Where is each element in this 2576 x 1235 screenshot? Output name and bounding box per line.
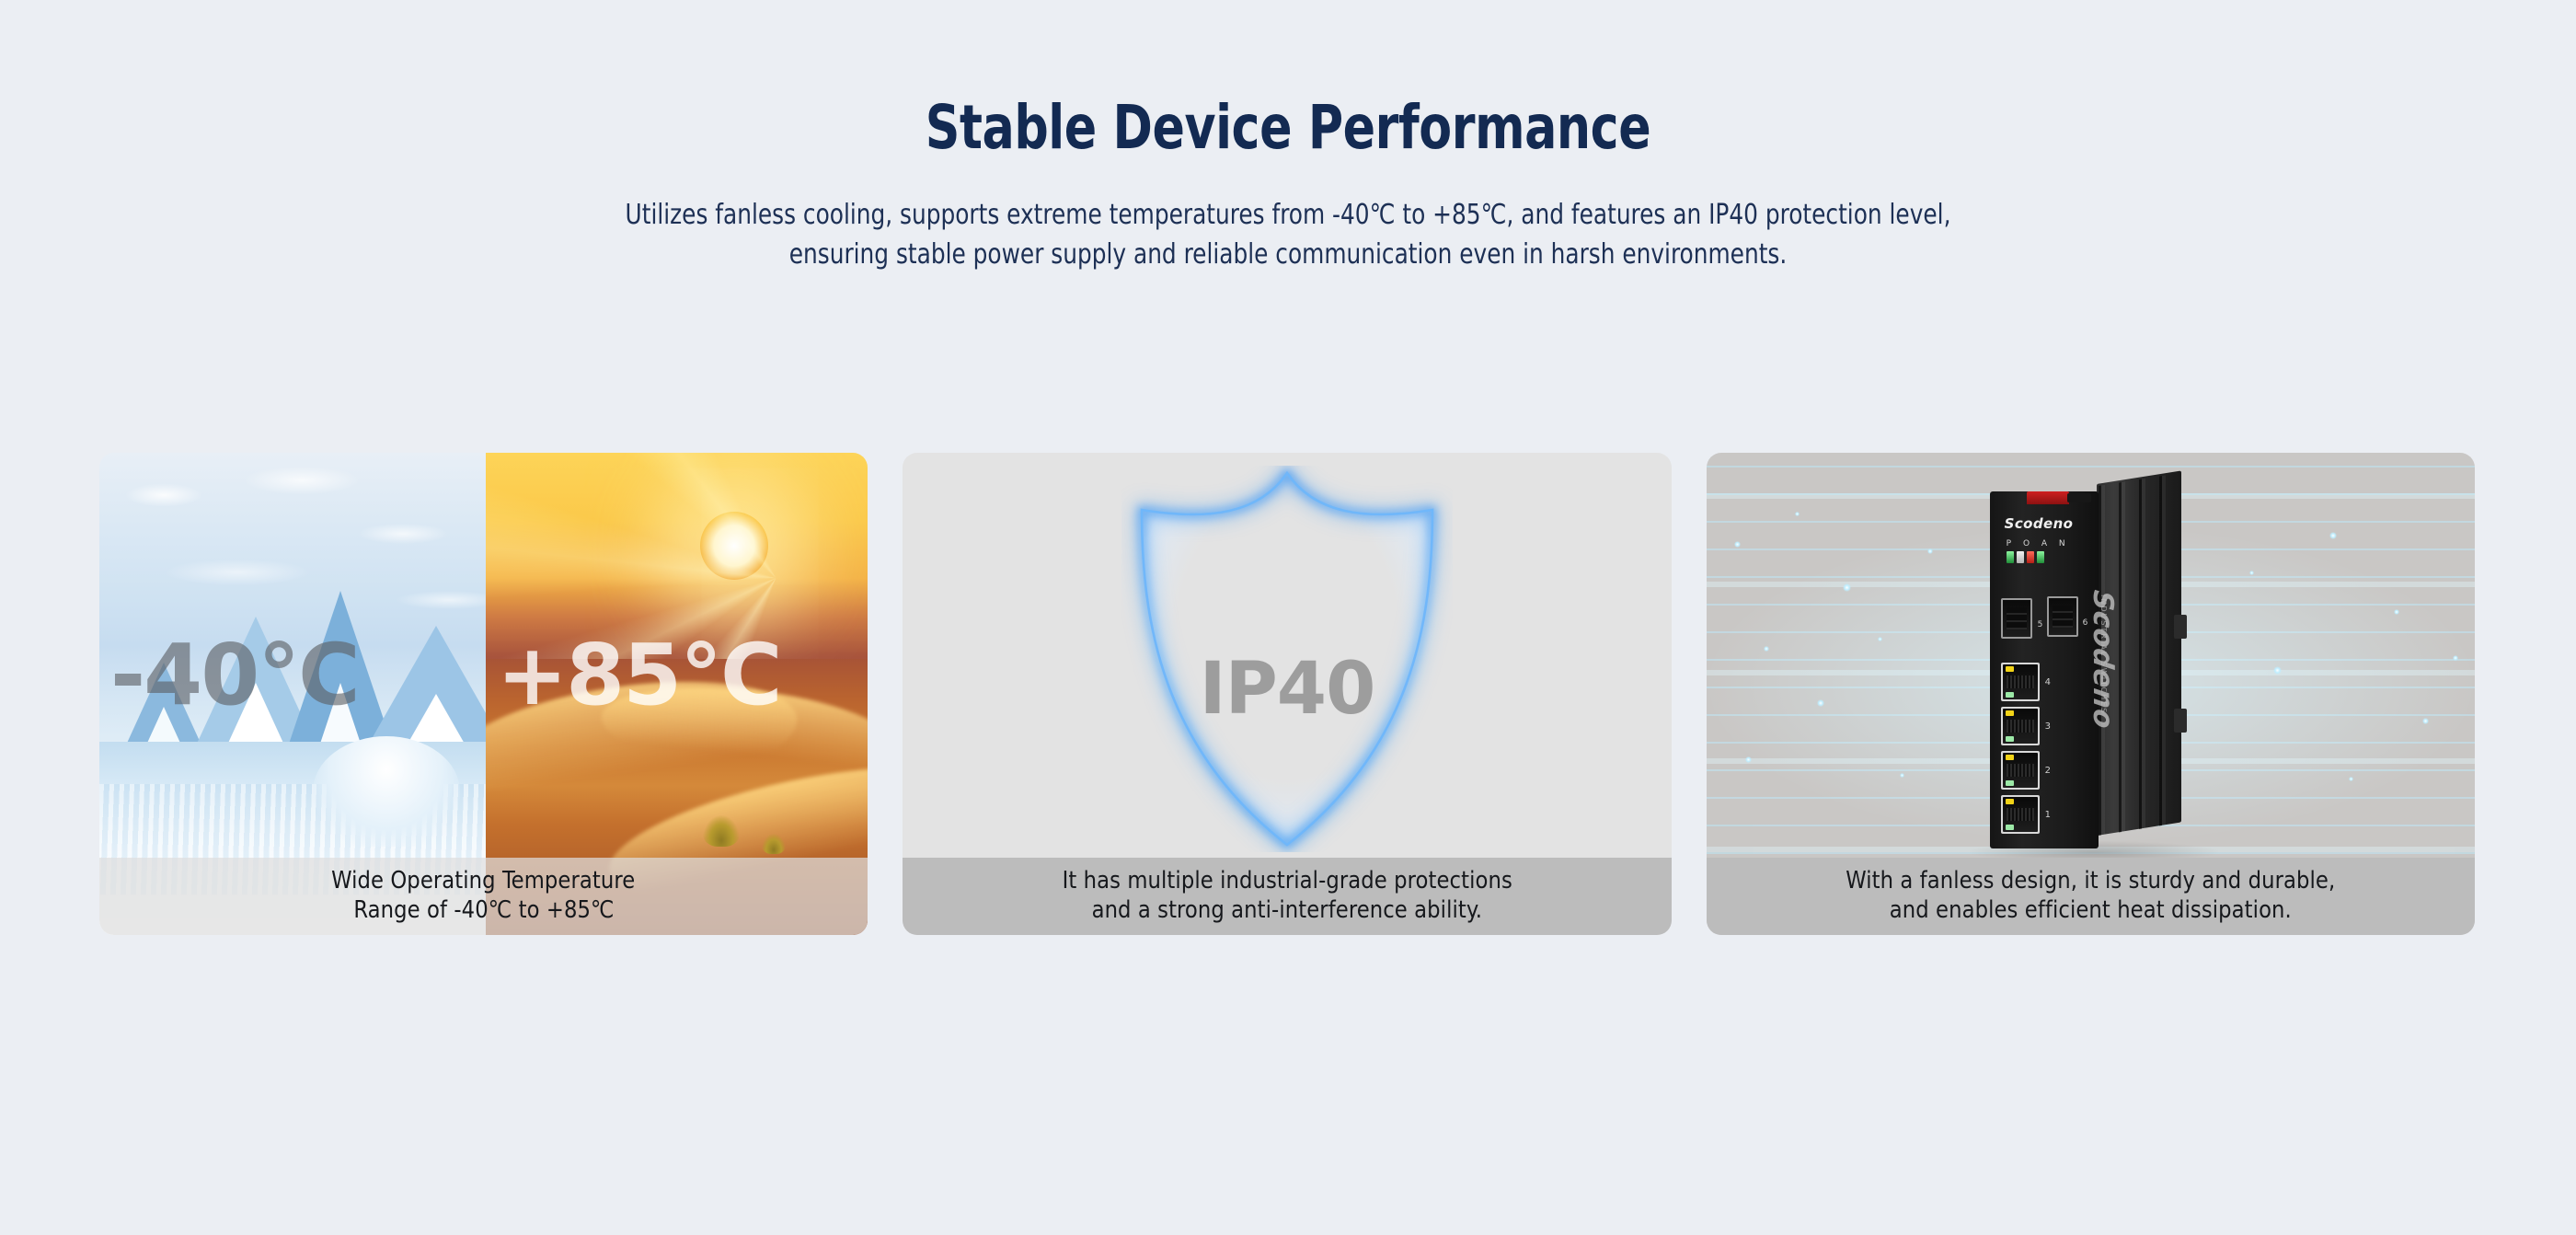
rj45-port-1 [2001,795,2040,834]
card-caption: With a fanless design, it is sturdy and … [1707,858,2475,935]
caption-line-1: With a fanless design, it is sturdy and … [1846,867,2335,896]
subtitle-line-2: ensuring stable power supply and reliabl… [103,236,2473,275]
shield-icon: IP40 [1121,466,1453,852]
hot-temperature-label: +85℃ [497,633,781,718]
sfp-port-5 [2001,598,2032,639]
sfp-port-6 [2047,596,2078,637]
section-subtitle: Utilizes fanless cooling, supports extre… [0,196,2576,274]
card-ip40-protection[interactable]: IP40 It has multiple industrial-grade pr… [903,453,1671,935]
din-rail-tab [2174,615,2187,639]
rj45-port-1-label: 1 [2045,810,2051,820]
caption-line-2: and enables efficient heat dissipation. [1890,896,2292,926]
desert-shrub [703,815,740,847]
rj45-port-4-label: 4 [2045,677,2051,687]
section-header: Stable Device Performance Utilizes fanle… [0,0,2576,274]
page-title: Stable Device Performance [155,96,2421,159]
rj45-port-2 [2001,751,2040,790]
card-caption: It has multiple industrial-grade protect… [903,858,1671,935]
power-terminal-clip [2027,491,2069,504]
device-front-panel: Scodeno P O A N 5 6 [1990,491,2099,848]
led-network [2037,551,2044,563]
subtitle-line-1: Utilizes fanless cooling, supports extre… [103,196,2473,236]
ice-mound [313,736,460,847]
industrial-switch-device: Scodeno P O A N 5 6 [1990,484,2203,852]
led-legend-label: P O A N [2007,539,2070,548]
din-rail-tab [2174,709,2187,733]
card-caption: Wide Operating Temperature Range of -40℃… [99,858,868,935]
card-fanless-design[interactable]: Scodeno P O A N 5 6 [1707,453,2475,935]
card-wide-operating-temperature[interactable]: -40℃ +85℃ Wide Operating Temperature [99,453,868,935]
sfp-port-5-label: 5 [2038,620,2043,629]
led-online [2017,551,2024,563]
caption-line-1: It has multiple industrial-grade protect… [1062,867,1512,896]
desert-shrub [762,834,786,854]
rj45-port-3-label: 3 [2045,721,2051,732]
stable-device-performance-section: Stable Device Performance Utilizes fanle… [0,0,2576,1235]
status-led-group [2007,551,2044,563]
caption-line-2: Range of -40℃ to +85℃ [353,896,614,926]
caption-line-1: Wide Operating Temperature [332,867,636,896]
ip40-badge-text: IP40 [1121,648,1453,731]
caption-line-2: and a strong anti-interference ability. [1092,896,1483,926]
terminal-block [2067,493,2091,502]
rj45-port-4 [2001,663,2040,701]
feature-card-grid: -40℃ +85℃ Wide Operating Temperature [99,453,2475,935]
device-brand-logo: Scodeno [2005,515,2074,532]
cold-temperature-label: -40℃ [110,633,359,718]
led-power [2007,551,2014,563]
led-alarm [2027,551,2034,563]
rj45-port-2-label: 2 [2045,766,2051,776]
device-side-subtitle: INDUSTRIAL SWITCHES [2099,594,2108,714]
rj45-port-3 [2001,707,2040,745]
